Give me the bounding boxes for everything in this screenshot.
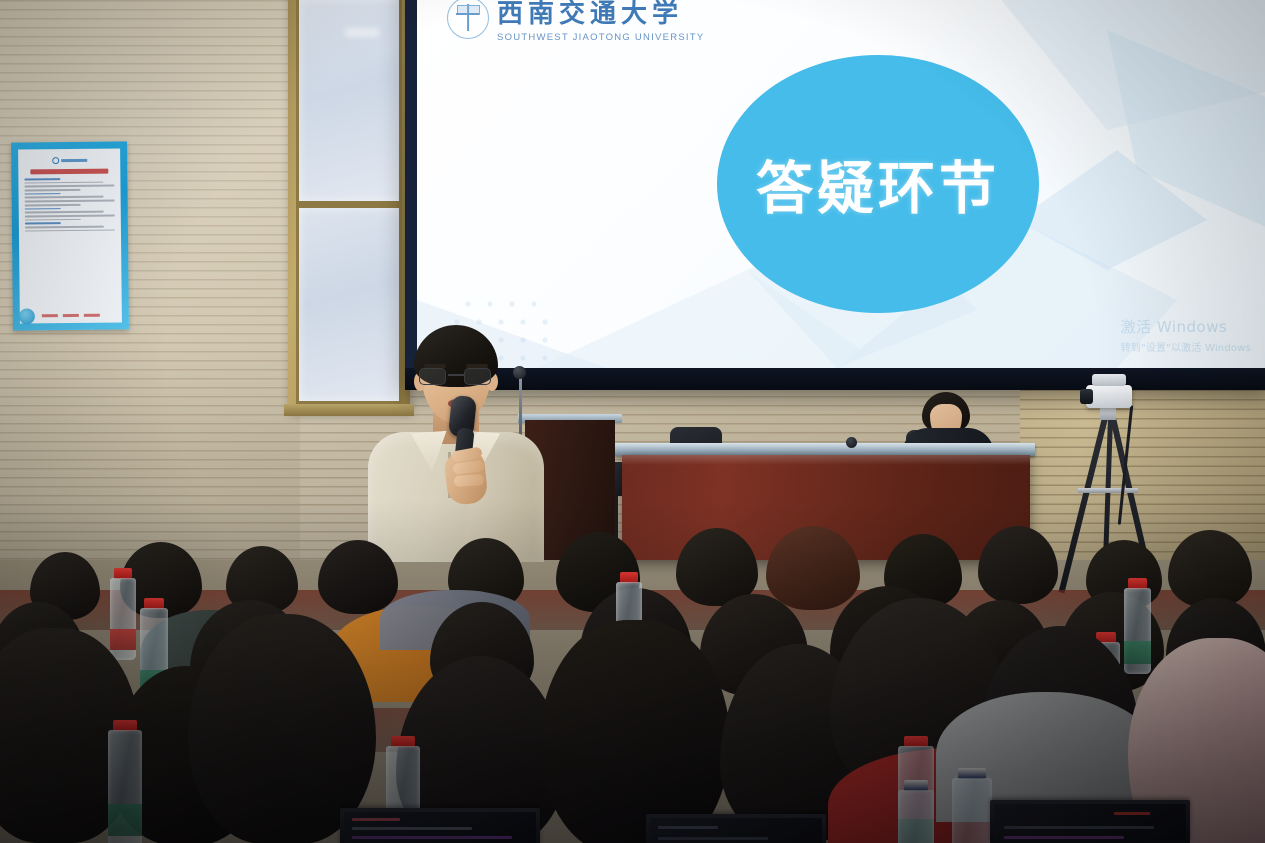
window-panes	[296, 0, 402, 404]
poster-body-line	[25, 204, 81, 206]
bottle-label	[1124, 641, 1151, 663]
audience-laptop[interactable]	[646, 814, 826, 843]
university-name-chinese: 西南交通大学	[497, 0, 704, 30]
camera-lens-icon	[1080, 389, 1093, 404]
poster-footer-mark	[63, 314, 79, 317]
window-glare	[345, 28, 379, 37]
bottle-body	[1124, 588, 1151, 674]
laptop-ui-element	[1004, 826, 1154, 829]
university-name-english: SOUTHWEST JIAOTONG UNIVERSITY	[497, 32, 704, 43]
audience-head	[766, 526, 860, 610]
poster-footer	[26, 314, 116, 320]
bottle-body	[108, 730, 142, 843]
speaker-glasses-icon	[419, 368, 493, 385]
laptop-ui-element	[1004, 836, 1124, 839]
poster-heading-line	[25, 208, 61, 210]
glasses-bridge	[448, 374, 464, 376]
laptop-ui-element	[352, 836, 512, 839]
audience-head-foreground	[540, 620, 730, 843]
poster-body-line	[25, 196, 104, 199]
bottle-label	[108, 804, 142, 835]
slide-university-logo: 西南交通大学 SOUTHWEST JIAOTONG UNIVERSITY	[447, 0, 717, 40]
poster-body-line	[25, 200, 115, 203]
laptop-ui-element	[658, 837, 768, 840]
speaker-brow-right	[466, 364, 488, 368]
poster-heading-line	[25, 193, 61, 195]
glasses-lens-right	[464, 368, 491, 385]
poster-footer-mark	[42, 314, 58, 317]
poster-title-bar	[30, 169, 108, 175]
poster-body-line	[25, 226, 104, 229]
watermark-line-1: 激活 Windows	[1121, 316, 1251, 337]
poster-heading-line	[24, 178, 60, 180]
laptop-screen	[344, 812, 536, 843]
water-bottle	[1124, 578, 1151, 674]
speaker-brow-left	[424, 364, 446, 368]
projection-screen: 西南交通大学 SOUTHWEST JIAOTONG UNIVERSITY 答疑环…	[417, 0, 1265, 368]
poster-logo-icon	[52, 157, 59, 164]
glasses-lens-left	[419, 368, 446, 385]
laptop-ui-element	[352, 827, 472, 830]
audience-laptop[interactable]	[340, 808, 540, 843]
thermos-bottle	[952, 768, 992, 843]
poster-body-line	[24, 185, 114, 188]
poster-body-line	[24, 181, 103, 184]
window-pane-lower	[299, 208, 399, 401]
poster-logo	[24, 157, 114, 165]
poster-body-line	[25, 211, 104, 214]
bottle-body	[898, 790, 934, 843]
laptop-ui-element	[352, 818, 400, 821]
lecture-hall-photo: 西南交通大学 SOUTHWEST JIAOTONG UNIVERSITY 答疑环…	[0, 0, 1265, 843]
laptop-screen	[994, 804, 1186, 840]
water-bottle	[108, 720, 142, 843]
watermark-line-2: 转到"设置"以激活 Windows	[1121, 339, 1251, 354]
wall-notice-poster	[11, 141, 129, 330]
laptop-ui-element	[658, 826, 718, 829]
tripod-head	[1100, 406, 1116, 420]
screen-lower-frame	[405, 368, 1265, 390]
bottle-body	[110, 578, 136, 660]
poster-footer-mark	[84, 314, 100, 317]
poster-body-line	[25, 218, 81, 220]
slide-title-bubble: 答疑环节	[717, 55, 1039, 313]
poster-body-line	[25, 229, 115, 232]
laptop-ui-element	[1114, 812, 1150, 815]
poster-logo-text	[61, 159, 87, 162]
camera-top-handle	[1092, 374, 1126, 386]
poster-heading-line	[25, 222, 61, 224]
audience-head	[318, 540, 398, 614]
poster-body-line	[25, 189, 81, 191]
slide-title-text: 答疑环节	[756, 143, 1000, 225]
bottle-body	[952, 778, 992, 843]
poster-body-line	[25, 214, 115, 217]
audience-head	[978, 526, 1058, 604]
poster-seal-icon	[19, 308, 35, 324]
wall-window	[288, 0, 410, 412]
university-crest-icon	[447, 0, 489, 39]
windows-activation-watermark: 激活 Windows 转到"设置"以激活 Windows	[1121, 316, 1251, 354]
audience	[0, 430, 1265, 843]
audience-laptop[interactable]	[990, 800, 1190, 843]
crest-inner-shape	[457, 5, 480, 15]
bottle-label	[110, 629, 136, 650]
laptop-screen	[650, 818, 822, 843]
water-bottle	[110, 568, 136, 660]
window-sill	[284, 404, 414, 416]
slide-logo-text-block: 西南交通大学 SOUTHWEST JIAOTONG UNIVERSITY	[497, 0, 704, 43]
poster-content	[18, 148, 122, 323]
gooseneck-microphone	[513, 366, 526, 379]
audience-head	[1168, 530, 1252, 608]
water-bottle	[898, 780, 934, 843]
